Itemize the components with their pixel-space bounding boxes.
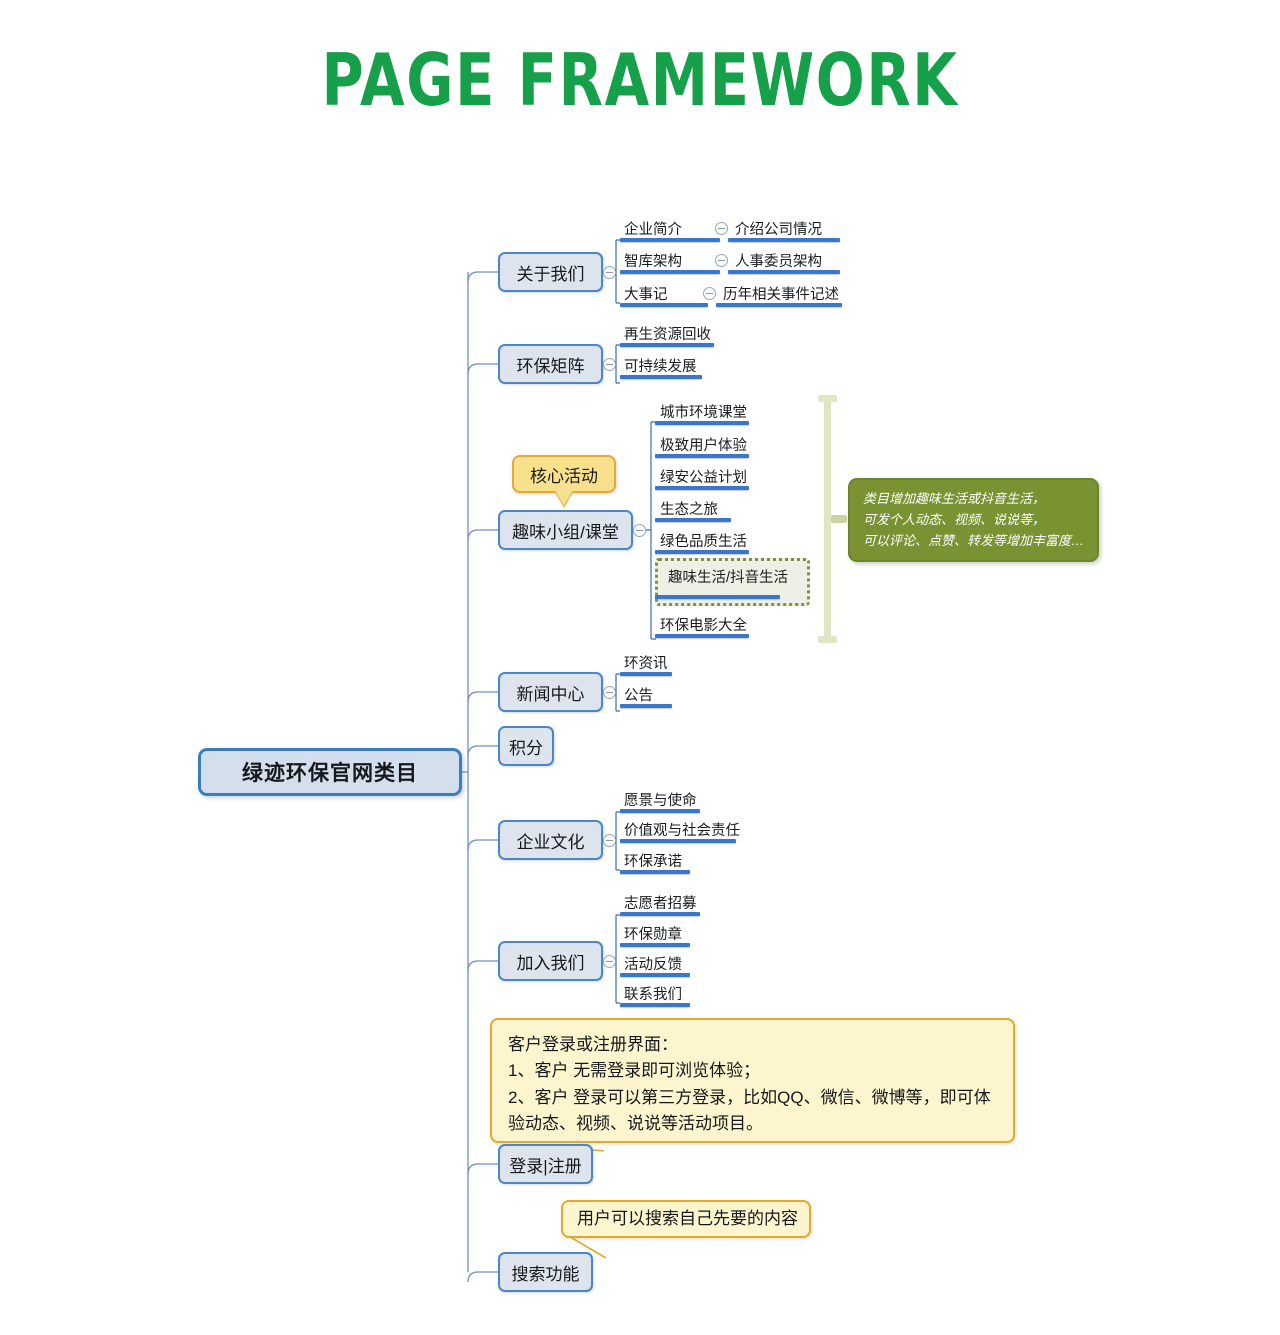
sub-item-label[interactable]: 极致用户体验 bbox=[660, 434, 747, 455]
item-underline bbox=[728, 270, 840, 274]
branch-label: 新闻中心 bbox=[517, 680, 585, 705]
note-line: 客户登录或注册界面： bbox=[508, 1032, 997, 1058]
callout-label: 核心活动 bbox=[530, 462, 598, 487]
branch-node-interest-group[interactable]: 趣味小组/课堂 bbox=[498, 510, 633, 550]
item-underline bbox=[655, 550, 749, 554]
sub-item-label[interactable]: 愿景与使命 bbox=[624, 789, 697, 810]
item-underline bbox=[620, 870, 690, 874]
sub-item-label[interactable]: 绿安公益计划 bbox=[660, 466, 747, 487]
sub-item-label[interactable]: 趣味生活/抖音生活 bbox=[668, 566, 788, 587]
branch-node-matrix[interactable]: 环保矩阵 bbox=[498, 344, 603, 384]
item-underline bbox=[655, 595, 780, 599]
item-underline bbox=[655, 454, 749, 458]
item-underline bbox=[620, 809, 700, 813]
callout-core-activity: 核心活动 bbox=[512, 455, 616, 493]
sub-item-label[interactable]: 城市环境课堂 bbox=[660, 401, 747, 422]
note-line: 验动态、视频、说说等活动项目。 bbox=[508, 1111, 997, 1137]
bracket-cap-top bbox=[818, 395, 837, 402]
bracket-cap-bottom bbox=[818, 636, 837, 643]
branch-node-login-register[interactable]: 登录|注册 bbox=[498, 1144, 593, 1184]
root-node-label: 绿迹环保官网类目 bbox=[242, 757, 418, 787]
sub-item-label[interactable]: 环保勋章 bbox=[624, 923, 682, 944]
sub-item-label[interactable]: 再生资源回收 bbox=[624, 323, 711, 344]
sub-item-label[interactable]: 可持续发展 bbox=[624, 355, 697, 376]
callout-tail bbox=[555, 490, 573, 506]
collapse-toggle-culture[interactable] bbox=[603, 834, 616, 847]
sub-item-label[interactable]: 价值观与社会责任 bbox=[624, 819, 740, 840]
sub-item-label[interactable]: 联系我们 bbox=[624, 983, 682, 1004]
bracket-connector bbox=[831, 515, 847, 523]
sub-item-label[interactable]: 生态之旅 bbox=[660, 498, 718, 519]
sub-item-label[interactable]: 环保承诺 bbox=[624, 850, 682, 871]
note-activity-green: 类目增加趣味生活或抖音生活， 可发个人动态、视频、说说等， 可以评论、点赞、转发… bbox=[848, 478, 1099, 562]
mindmap-canvas: PAGE FRAMEWORK bbox=[0, 0, 1280, 1335]
sub-item-label[interactable]: 绿色品质生活 bbox=[660, 530, 747, 551]
item-underline bbox=[620, 943, 690, 947]
bracket-spine bbox=[824, 395, 831, 643]
branch-node-news[interactable]: 新闻中心 bbox=[498, 672, 603, 712]
collapse-toggle-matrix[interactable] bbox=[603, 358, 616, 371]
collapse-toggle-sub[interactable] bbox=[703, 287, 716, 300]
note-login-register: 客户登录或注册界面： 1、客户 无需登录即可浏览体验； 2、客户 登录可以第三方… bbox=[490, 1018, 1015, 1143]
item-underline bbox=[620, 303, 708, 307]
item-underline bbox=[728, 238, 840, 242]
root-node[interactable]: 绿迹环保官网类目 bbox=[198, 748, 462, 796]
branch-node-culture[interactable]: 企业文化 bbox=[498, 820, 603, 860]
branch-node-join-us[interactable]: 加入我们 bbox=[498, 941, 603, 981]
item-underline bbox=[620, 1003, 690, 1007]
branch-label: 环保矩阵 bbox=[517, 352, 585, 377]
note-line: 可发个人动态、视频、说说等， bbox=[863, 510, 1084, 531]
branch-node-points[interactable]: 积分 bbox=[498, 726, 554, 766]
item-underline bbox=[620, 270, 720, 274]
collapse-toggle-interest-group[interactable] bbox=[633, 524, 646, 537]
branch-node-search[interactable]: 搜索功能 bbox=[498, 1252, 593, 1292]
sub-sub-item-label[interactable]: 人事委员架构 bbox=[735, 250, 822, 271]
note-line: 2、客户 登录可以第三方登录，比如QQ、微信、微博等，即可体 bbox=[508, 1085, 997, 1111]
branch-label: 企业文化 bbox=[517, 828, 585, 853]
note-line: 1、客户 无需登录即可浏览体验； bbox=[508, 1058, 997, 1084]
item-underline bbox=[655, 421, 749, 425]
item-underline bbox=[620, 704, 672, 708]
collapse-toggle-about[interactable] bbox=[603, 266, 616, 279]
item-underline bbox=[716, 303, 842, 307]
page-title: PAGE FRAMEWORK bbox=[128, 44, 1152, 116]
item-underline bbox=[620, 238, 720, 242]
branch-label: 搜索功能 bbox=[512, 1260, 580, 1285]
sub-item-label[interactable]: 企业简介 bbox=[624, 218, 682, 239]
branch-label: 登录|注册 bbox=[509, 1152, 581, 1177]
branch-label: 积分 bbox=[509, 734, 543, 759]
item-underline bbox=[620, 973, 690, 977]
sub-sub-item-label[interactable]: 历年相关事件记述 bbox=[723, 283, 839, 304]
note-search: 用户可以搜索自己先要的内容 bbox=[561, 1200, 811, 1238]
sub-item-label[interactable]: 公告 bbox=[624, 684, 653, 705]
sub-item-label[interactable]: 志愿者招募 bbox=[624, 892, 697, 913]
collapse-toggle-sub[interactable] bbox=[715, 254, 728, 267]
branch-label: 趣味小组/课堂 bbox=[512, 518, 619, 543]
sub-sub-item-label[interactable]: 介绍公司情况 bbox=[735, 218, 822, 239]
collapse-toggle-news[interactable] bbox=[603, 686, 616, 699]
sub-item-label[interactable]: 环资讯 bbox=[624, 652, 668, 673]
branch-label: 关于我们 bbox=[517, 260, 585, 285]
group-bracket-activities bbox=[818, 395, 848, 643]
item-underline bbox=[620, 672, 672, 676]
branch-label: 加入我们 bbox=[517, 949, 585, 974]
sub-item-label[interactable]: 智库架构 bbox=[624, 250, 682, 271]
sub-item-label[interactable]: 活动反馈 bbox=[624, 953, 682, 974]
branch-node-about[interactable]: 关于我们 bbox=[498, 252, 603, 292]
collapse-toggle-join-us[interactable] bbox=[603, 955, 616, 968]
note-line: 可以评论、点赞、转发等增加丰富度… bbox=[863, 531, 1084, 552]
item-underline bbox=[620, 375, 702, 379]
note-line: 类目增加趣味生活或抖音生活， bbox=[863, 489, 1084, 510]
collapse-toggle-sub[interactable] bbox=[715, 222, 728, 235]
item-underline bbox=[655, 486, 749, 490]
item-underline bbox=[620, 912, 700, 916]
sub-item-label[interactable]: 大事记 bbox=[624, 283, 668, 304]
item-underline bbox=[655, 518, 731, 522]
item-underline bbox=[620, 343, 714, 347]
item-underline bbox=[655, 634, 749, 638]
item-underline bbox=[620, 839, 736, 843]
sub-item-label[interactable]: 环保电影大全 bbox=[660, 614, 747, 635]
note-line: 用户可以搜索自己先要的内容 bbox=[577, 1206, 798, 1232]
